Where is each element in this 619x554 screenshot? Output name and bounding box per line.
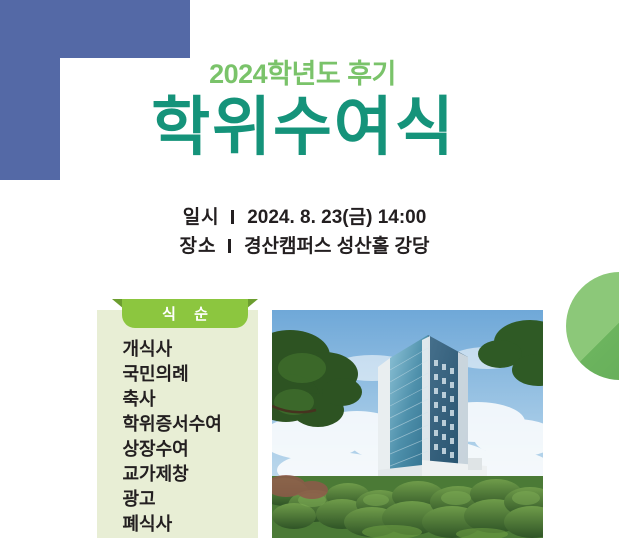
program-item: 교가제창 [123,462,233,487]
ribbon-body: 식 순 [122,299,248,328]
program-heading-label: 식 순 [155,303,215,324]
poster-canvas: 2024학년도 후기 학위수여식 일시 2024. 8. 23(금) 14:00… [0,0,619,554]
event-info-location: 장소 경산캠퍼스 성산홀 강당 [0,232,609,261]
program-item: 축사 [123,387,233,412]
event-info-datetime: 일시 2024. 8. 23(금) 14:00 [0,203,609,232]
campus-photo-illustration [272,310,543,538]
location-value: 경산캠퍼스 성산홀 강당 [244,236,429,257]
program-item: 상장수여 [123,437,233,462]
datetime-value: 2024. 8. 23(금) 14:00 [247,207,426,228]
green-circle-decoration [566,272,619,380]
program-item: 학위증서수여 [123,412,233,437]
program-item: 광고 [123,487,233,512]
datetime-label: 일시 [183,207,220,228]
program-list: 개식사 국민의례 축사 학위증서수여 상장수여 교가제창 광고 폐식사 [97,337,258,537]
campus-building-photo [272,310,543,538]
blue-corner-block-top [0,0,190,58]
poster-subtitle: 2024학년도 후기 [0,52,619,91]
program-item: 국민의례 [123,362,233,387]
program-heading-ribbon: 식 순 [112,299,258,328]
event-info-block: 일시 2024. 8. 23(금) 14:00 장소 경산캠퍼스 성산홀 강당 [0,203,619,262]
poster-title: 학위수여식 [0,95,619,159]
program-item: 개식사 [123,337,233,362]
separator-bar-icon [228,239,231,253]
separator-bar-icon [231,210,234,224]
location-label: 장소 [180,236,217,257]
program-item: 폐식사 [123,512,233,537]
